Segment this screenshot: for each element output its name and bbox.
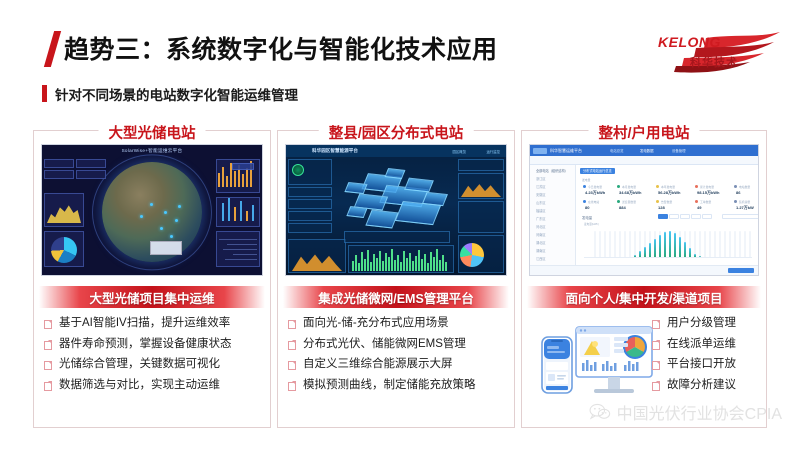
list-item: 分布式光伏、储能微网EMS管理 [288,338,508,351]
app-logo [533,148,547,154]
title-accent-slash [44,31,61,67]
stats-section-label: 发电量 [582,178,590,182]
chart-ylabel: 发电量(kWh) [584,222,599,226]
sidebar-item[interactable]: 广东区 [536,216,546,221]
list-item-label: 器件寿命预测，掌握设备健康状态 [59,338,232,351]
list-item-label: 面向光-储-充分布式应用场景 [303,317,449,330]
stat-label: 今日发电量 [588,185,602,189]
list-item-label: 用户分级管理 [667,317,736,330]
list-item-label: 光储综合管理，关键数据可视化 [59,358,220,371]
sidebar-item-root[interactable]: 全部电站（组织结构） [536,168,568,173]
range-tab-day[interactable] [658,214,668,219]
list-item: 用户分级管理 [652,317,760,330]
card-ribbon: 面向个人/集中开发/渠道项目 [527,286,761,308]
kelong-logo: KELONG 科华技术 [654,28,782,76]
stat-label: 本年发电量 [661,185,675,189]
generation-bar-chart: 发电量(kWh) [584,223,752,261]
card-ribbon-label: 大型光储项目集中运维 [89,288,214,307]
sidebar[interactable]: 全部电站（组织结构） 浙江区 江苏区 安徽区 山东区 福建区 广东区 河北区 河… [530,165,576,265]
note-bullet-icon [288,320,296,329]
stat-value: 128 [658,205,665,210]
list-item-label: 基于AI智能IV扫描，提升运维效率 [59,317,230,330]
range-tab-week[interactable] [669,214,679,219]
stat-value: 98.15万kWh [697,190,719,196]
note-bullet-icon [288,361,296,370]
sidebar-item[interactable]: 湖北区 [536,240,546,245]
stat-value: 49 [697,205,701,210]
list-item: 平台接口开放 [652,358,760,371]
list-item-label: 分布式光伏、储能微网EMS管理 [303,338,466,351]
note-bullet-icon [44,382,52,391]
watermark: 中国光伏行业协会CPIA [589,400,782,424]
list-item: 光储综合管理，关键数据可视化 [44,358,264,371]
main-content: 分布式电站运行总览 发电量 今日发电量 4.23万kWh 本月发电量 34.68… [576,165,758,265]
card-ribbon-label: 面向个人/集中开发/渠道项目 [566,288,723,307]
stat-value: 1.27万kW [736,205,754,211]
date-picker[interactable] [722,214,759,219]
sidebar-item[interactable]: 河南区 [536,232,546,237]
sidebar-item[interactable]: 河北区 [536,224,546,229]
list-item-label: 平台接口开放 [667,358,736,371]
dashboard-tag: 园区概览 [452,149,466,154]
list-item: 器件寿命预测，掌握设备健康状态 [44,338,264,351]
list-item: 自定义三维综合能源展示大屏 [288,358,508,371]
page-title: 趋势三：系统数字化与智能化技术应用 [64,30,498,66]
stat-label: 逆变器数量 [622,200,636,204]
sidebar-item[interactable]: 江苏区 [536,184,546,189]
note-bullet-icon [44,320,52,329]
dashboard-title: 科华智慧运维平台 [550,148,582,154]
chart-bars [594,231,750,257]
stat-label: 电站数量 [739,185,750,189]
logo-brand-text: KELONG [658,34,721,50]
card-title: 整村/户用电站 [588,122,699,143]
note-bullet-icon [652,341,660,350]
phone-and-monitor-illustration [532,319,658,411]
stat-label: 告警数量 [661,200,672,204]
range-tab-year[interactable] [691,214,701,219]
sidebar-item[interactable]: 湖南区 [536,248,546,253]
feature-list: 基于AI智能IV扫描，提升运维效率 器件寿命预测，掌握设备健康状态 光储综合管理… [44,317,264,399]
screenshot-blue-3d-park-dashboard: 科华园区智慧能源平台 园区概览 运行监控 [285,144,507,276]
tab-generation-data[interactable]: 发电数据 [640,148,654,153]
section-chip: 分布式电站运行总览 [580,168,615,174]
sidebar-item[interactable]: 浙江区 [536,176,546,181]
sidebar-item[interactable]: 江西区 [536,256,546,261]
stat-label: 装机容量 [739,200,750,204]
stat-value: 884 [619,205,626,210]
list-item-label: 故障分析建议 [667,379,736,392]
tab-overview[interactable]: 电站总览 [610,148,624,153]
list-item: 面向光-储-充分布式应用场景 [288,317,508,330]
scenario-card-group: 大型光储电站 SolarWise+智能运维云平台 [0,120,800,420]
note-bullet-icon [652,361,660,370]
screenshot-dark-geo-dashboard: SolarWise+智能运维云平台 [41,144,263,276]
slide-header: 趋势三：系统数字化与智能化技术应用 针对不同场景的电站数字化智能运维管理 KEL… [0,0,800,110]
wechat-icon [589,403,611,421]
note-bullet-icon [652,320,660,329]
list-item: 在线派单运维 [652,338,760,351]
list-item-label: 数据筛选与对比，实现主动运维 [59,379,220,392]
card-title: 整县/园区分布式电站 [319,122,474,143]
stat-label: 累计发电量 [700,185,714,189]
card-ribbon: 大型光储项目集中运维 [39,286,265,308]
stat-label: 在线电站 [588,200,599,204]
tab-device-management[interactable]: 设备管理 [672,148,686,153]
sidebar-item[interactable]: 安徽区 [536,192,546,197]
list-item: 故障分析建议 [652,379,760,392]
screenshot-light-web-dashboard: 科华智慧运维平台 电站总览 发电数据 设备管理 全部电站（组织结构） 浙江区 江… [529,144,759,276]
subtitle-accent-bar [42,85,47,102]
export-button[interactable] [728,268,754,273]
list-item-label: 在线派单运维 [667,338,736,351]
stat-value: 80 [585,205,589,210]
card-large-pv-storage-plant: 大型光储电站 SolarWise+智能运维云平台 [33,130,271,428]
card-title: 大型光储电站 [99,122,206,143]
dashboard-title: SolarWise+智能运维云平台 [122,148,183,154]
list-item-label: 模拟预测曲线，制定储能充放策略 [303,379,476,392]
list-item-label: 自定义三维综合能源展示大屏 [303,358,453,371]
card-village-household-plant: 整村/户用电站 科华智慧运维平台 电站总览 发电数据 设备管理 全部电站（组织结… [521,130,767,428]
stat-value: 86 [736,190,740,195]
stat-value: 34.68万kWh [619,190,641,196]
chart-title: 发电量 [582,215,592,220]
list-item: 数据筛选与对比，实现主动运维 [44,379,264,392]
dashboard-tag: 运行监控 [486,149,500,154]
note-bullet-icon [44,361,52,370]
stat-value: 56.28万kWh [658,190,680,196]
note-bullet-icon [44,341,52,350]
dashboard-title: 科华园区智慧能源平台 [312,148,358,154]
stat-label: 本月发电量 [622,185,636,189]
list-item: 模拟预测曲线，制定储能充放策略 [288,379,508,392]
logo-brand-cn: 科华技术 [690,54,738,70]
feature-list: 用户分级管理 在线派单运维 平台接口开放 故障分析建议 [652,317,760,399]
watermark-label: 中国光伏行业协会CPIA [617,400,782,424]
range-tab-month[interactable] [680,214,690,219]
sidebar-item[interactable]: 山东区 [536,200,546,205]
note-bullet-icon [288,341,296,350]
stat-label: 工单数量 [700,200,711,204]
sidebar-item[interactable]: 福建区 [536,208,546,213]
list-item: 基于AI智能IV扫描，提升运维效率 [44,317,264,330]
card-ribbon: 集成光储微网/EMS管理平台 [283,286,509,308]
page-subtitle: 针对不同场景的电站数字化智能运维管理 [55,84,298,104]
card-ribbon-label: 集成光储微网/EMS管理平台 [318,288,474,307]
note-bullet-icon [288,382,296,391]
note-bullet-icon [652,382,660,391]
feature-list: 面向光-储-充分布式应用场景 分布式光伏、储能微网EMS管理 自定义三维综合能源… [288,317,508,399]
stat-value: 4.23万kWh [585,190,605,196]
card-county-park-distributed-plant: 整县/园区分布式电站 科华园区智慧能源平台 园区概览 运行监控 [277,130,515,428]
range-tab-total[interactable] [702,214,712,219]
